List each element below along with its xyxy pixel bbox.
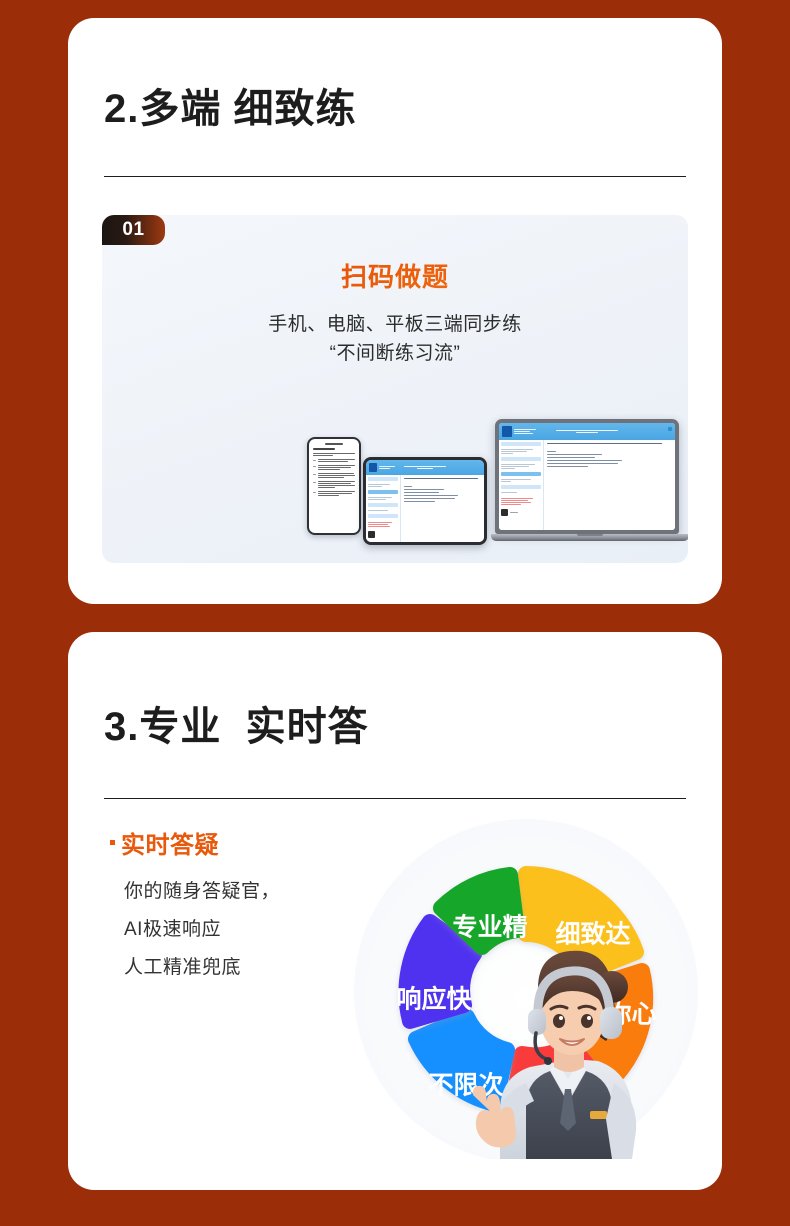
back-icon [313, 444, 317, 445]
bullet-list: 你的随身答疑官， AI极速响应 人工精准兜底 [124, 873, 280, 987]
bullet-heading: 实时答疑 [110, 825, 219, 860]
device-cluster [102, 407, 688, 557]
panel-title: 扫码做题 [102, 257, 688, 294]
laptop-content [544, 440, 675, 530]
panel-subtitle-line2: “不间断练习流” [102, 339, 688, 368]
list-item: 你的随身答疑官， [124, 873, 280, 911]
tablet-mockup [363, 457, 487, 545]
window-control-icon[interactable] [668, 427, 672, 431]
laptop-mockup [491, 419, 688, 547]
tablet-screen [366, 460, 484, 542]
sidebar-section[interactable] [368, 503, 398, 507]
sidebar-notice [501, 496, 541, 505]
status-badge: 01 [102, 215, 165, 245]
laptop-lid [495, 419, 679, 534]
list-item: AI极速响应 [124, 911, 280, 949]
sidebar-section[interactable] [501, 457, 541, 461]
phone-option-4 [313, 481, 355, 488]
phone-app-bar [313, 443, 355, 445]
laptop-app-body [499, 440, 675, 530]
laptop-screen [499, 423, 675, 530]
page-root: 2.多端 细致练 01 扫码做题 手机、电脑、平板三端同步练 “不间断练习流” [0, 0, 790, 1226]
app-brand-lines [514, 429, 536, 434]
service-wheel-diagram: 细致达 懂你心 双答疑 不限次 响应快 专业精 [340, 811, 712, 1159]
phone-question-stem [313, 453, 355, 456]
qr-code-icon [368, 531, 375, 538]
more-icon [350, 444, 355, 445]
bullet-square-icon [110, 840, 115, 845]
tablet-app-header [366, 460, 484, 475]
panel-subtitle: 手机、电脑、平板三端同步练 “不间断练习流” [102, 310, 688, 369]
section-realtime-answer: 3.专业 实时答 实时答疑 你的随身答疑官， AI极速响应 人工精准兜底 [68, 632, 722, 1190]
sidebar-section[interactable] [368, 514, 398, 518]
phone-option-3 [313, 473, 355, 478]
sidebar-notice [368, 520, 398, 527]
tablet-app-body [366, 475, 484, 542]
app-logo-icon [502, 426, 512, 437]
phone-heading-lines [313, 448, 355, 450]
phone-title-line [325, 443, 343, 445]
title-divider [104, 176, 686, 177]
tablet-sidebar[interactable] [366, 475, 401, 542]
bullet-heading-label: 实时答疑 [121, 825, 219, 860]
page-title: 3.专业 实时答 [100, 632, 690, 750]
panel-subtitle-line1: 手机、电脑、平板三端同步练 [268, 314, 522, 335]
sidebar-section-active[interactable] [501, 472, 541, 476]
section-multi-device: 2.多端 细致练 01 扫码做题 手机、电脑、平板三端同步练 “不间断练习流” [68, 18, 722, 604]
app-logo-icon [369, 463, 377, 472]
sidebar-section[interactable] [501, 442, 541, 446]
sidebar-section[interactable] [501, 485, 541, 489]
tablet-content [401, 475, 484, 542]
laptop-app-header [499, 423, 675, 440]
petal-label-xiangyingkuai: 响应快 [396, 985, 472, 1014]
laptop-trackpad-notch [577, 534, 603, 536]
sidebar-section[interactable] [368, 477, 398, 481]
qr-code-icon [501, 509, 508, 516]
phone-option-1 [313, 459, 355, 462]
app-brand-lines [379, 466, 395, 469]
list-item: 人工精准兜底 [124, 949, 280, 987]
petal-label-zhuanyejing: 专业精 [452, 913, 527, 942]
feature-panel-01: 01 扫码做题 手机、电脑、平板三端同步练 “不间断练习流” [102, 215, 688, 563]
realtime-answer-body: 实时答疑 你的随身答疑官， AI极速响应 人工精准兜底 [100, 825, 690, 1155]
laptop-base [491, 534, 688, 541]
page-title: 2.多端 细致练 [100, 18, 690, 132]
phone-option-2 [313, 465, 355, 470]
phone-mockup [307, 437, 361, 535]
phone-screen [309, 439, 359, 533]
laptop-sidebar[interactable] [499, 440, 544, 530]
title-divider [104, 798, 686, 799]
petal-label-xizhida: 细致达 [555, 920, 630, 949]
phone-option-5 [313, 491, 355, 496]
sidebar-section-active[interactable] [368, 490, 398, 494]
